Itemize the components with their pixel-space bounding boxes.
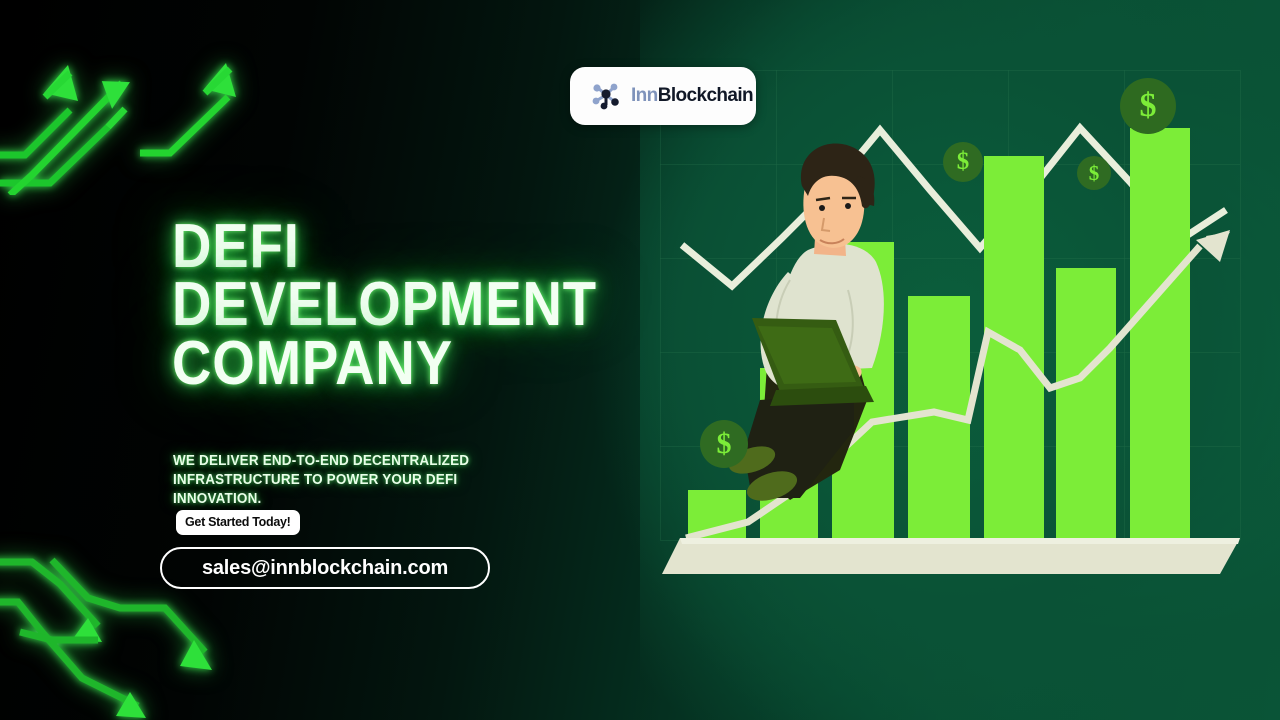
headline-line-1: DEFI (172, 218, 550, 276)
dollar-coin-small: $ (1077, 156, 1111, 190)
banner-root: $ $ $ $ (0, 0, 1280, 720)
dollar-coin-bottom-left: $ (700, 420, 748, 468)
brand-logo-chip[interactable]: InnBlockchain (570, 67, 756, 125)
dollar-coin-medium: $ (943, 142, 983, 182)
page-title: DEFI DEVELOPMENT COMPANY (172, 218, 550, 393)
headline-line-2: DEVELOPMENT (172, 276, 550, 334)
get-started-badge[interactable]: Get Started Today! (176, 510, 300, 535)
contact-email-button[interactable]: sales@innblockchain.com (160, 547, 490, 589)
brand-name-suffix: Blockchain (658, 85, 753, 106)
network-nodes-icon (590, 81, 622, 111)
decorative-up-arrows (0, 35, 270, 195)
brand-name-prefix: Inn (631, 85, 658, 106)
contact-email-label: sales@innblockchain.com (202, 557, 448, 580)
subheadline: WE DELIVER END-TO-END DECENTRALIZED INFR… (173, 452, 536, 509)
brand-name: InnBlockchain (631, 85, 753, 107)
dollar-coin-large: $ (1120, 78, 1176, 134)
headline-line-3: COMPANY (172, 335, 550, 393)
